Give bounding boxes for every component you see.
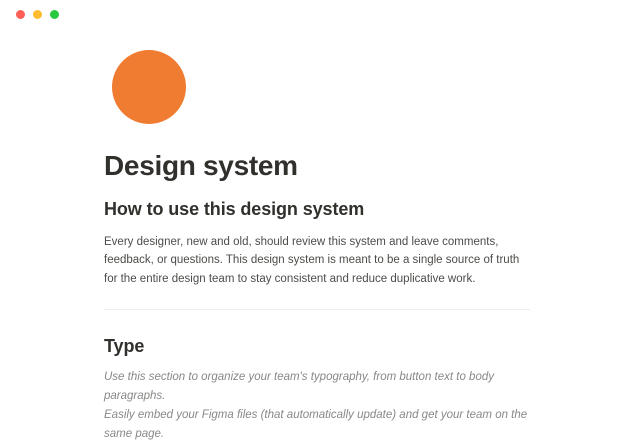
zoom-icon[interactable] [50, 10, 59, 19]
page-title: Design system [104, 124, 534, 182]
minimize-icon[interactable] [33, 10, 42, 19]
orange-circle-icon [112, 50, 186, 124]
section-heading-type: Type [104, 310, 534, 358]
app-window: Design system How to use this design sys… [0, 0, 640, 400]
section-hint-type-line-1: Use this section to organize your team's… [104, 368, 534, 406]
section-heading-how-to-use: How to use this design system [104, 182, 534, 221]
close-icon[interactable] [16, 10, 25, 19]
section-hint-type: Use this section to organize your team's… [104, 359, 534, 444]
window-controls [16, 10, 59, 19]
section-hint-type-line-2: Easily embed your Figma files (that auto… [104, 406, 534, 444]
document-content: Design system How to use this design sys… [104, 50, 534, 444]
window-titlebar [0, 0, 640, 30]
section-body-how-to-use: Every designer, new and old, should revi… [104, 222, 530, 289]
